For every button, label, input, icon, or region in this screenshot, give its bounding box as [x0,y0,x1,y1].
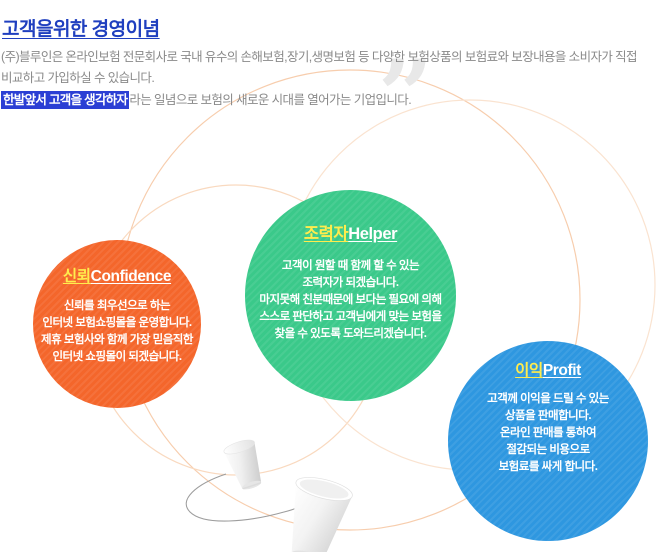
circle-body-line: 온라인 판매를 통하여 [448,425,648,442]
intro-paragraph: (주)블루인은 온라인보험 전문회사로 국내 유수의 손해보험,장기,생명보험 … [1,47,661,111]
circle-body-line: 인터넷 보험쇼핑몰을 운영합니다. [33,315,201,332]
circle-heading-confidence: 신뢰Confidence [33,264,201,286]
intro-line-2: 비교하고 가입하실 수 있습니다. [1,68,661,89]
intro-highlight: 한발앞서 고객을 생각하자 [1,91,129,109]
intro-line-1: (주)블루인은 온라인보험 전문회사로 국내 유수의 손해보험,장기,생명보험 … [1,47,661,68]
value-circle-helper[interactable]: 조력자Helper 고객이 원할 때 함께 할 수 있는 조력자가 되겠습니다.… [245,190,456,401]
intro-line-3-rest: 라는 일념으로 보험의 새로운 시대를 열어가는 기업입니다. [129,93,411,107]
circle-heading-en: Profit [543,362,581,379]
circle-body-line: 고객이 원할 때 함께 할 수 있는 [245,258,456,275]
circle-body-line: 신뢰를 최우선으로 하는 [33,298,201,315]
circle-body-line: 스스로 판단하고 고객님에게 맞는 보험을 [245,309,456,326]
value-circle-profit[interactable]: 이익Profit 고객께 이익을 드릴 수 있는 상품을 판매합니다. 온라인 … [448,341,648,541]
circle-heading-en: Helper [348,225,397,243]
circle-body-confidence: 신뢰를 최우선으로 하는 인터넷 보험쇼핑몰을 운영합니다. 제휴 보험사와 함… [33,298,201,366]
circle-heading-helper: 조력자Helper [245,220,456,244]
circle-body-line: 보험료를 싸게 합니다. [448,459,648,476]
circle-body-line: 절감되는 비용으로 [448,442,648,459]
circle-body-helper: 고객이 원할 때 함께 할 수 있는 조력자가 되겠습니다. 마지못해 친분때문… [245,258,456,343]
page-root: 고객을위한 경영이념 ” (주)블루인은 온라인보험 전문회사로 국내 유수의 … [0,0,669,552]
circle-content: 조력자Helper 고객이 원할 때 함께 할 수 있는 조력자가 되겠습니다.… [245,190,456,401]
string-telephone-icon [178,438,378,552]
page-title: 고객을위한 경영이념 [2,14,160,41]
circle-body-line: 찾을 수 있도록 도와드리겠습니다. [245,326,456,343]
circle-body-line: 상품을 판매합니다. [448,408,648,425]
circle-heading-kr: 조력자 [304,225,348,243]
circle-heading-profit: 이익Profit [448,358,648,380]
circle-body-line: 조력자가 되겠습니다. [245,275,456,292]
circle-body-line: 제휴 보험사와 함께 가장 믿음직한 [33,332,201,349]
circle-heading-kr: 이익 [515,362,543,379]
circle-body-line: 고객께 이익을 드릴 수 있는 [448,391,648,408]
circle-body-profit: 고객께 이익을 드릴 수 있는 상품을 판매합니다. 온라인 판매를 통하여 절… [448,391,648,476]
value-circle-confidence[interactable]: 신뢰Confidence 신뢰를 최우선으로 하는 인터넷 보험쇼핑몰을 운영합… [33,240,201,408]
circle-heading-en: Confidence [91,268,171,285]
circle-content: 신뢰Confidence 신뢰를 최우선으로 하는 인터넷 보험쇼핑몰을 운영합… [33,240,201,408]
circle-content: 이익Profit 고객께 이익을 드릴 수 있는 상품을 판매합니다. 온라인 … [448,341,648,541]
intro-line-3: 한발앞서 고객을 생각하자라는 일념으로 보험의 새로운 시대를 열어가는 기업… [1,90,661,111]
circle-heading-kr: 신뢰 [63,268,91,285]
circle-body-line: 인터넷 쇼핑몰이 되겠습니다. [33,349,201,366]
circle-body-line: 마지못해 친분때문에 보다는 필요에 의해 [245,292,456,309]
